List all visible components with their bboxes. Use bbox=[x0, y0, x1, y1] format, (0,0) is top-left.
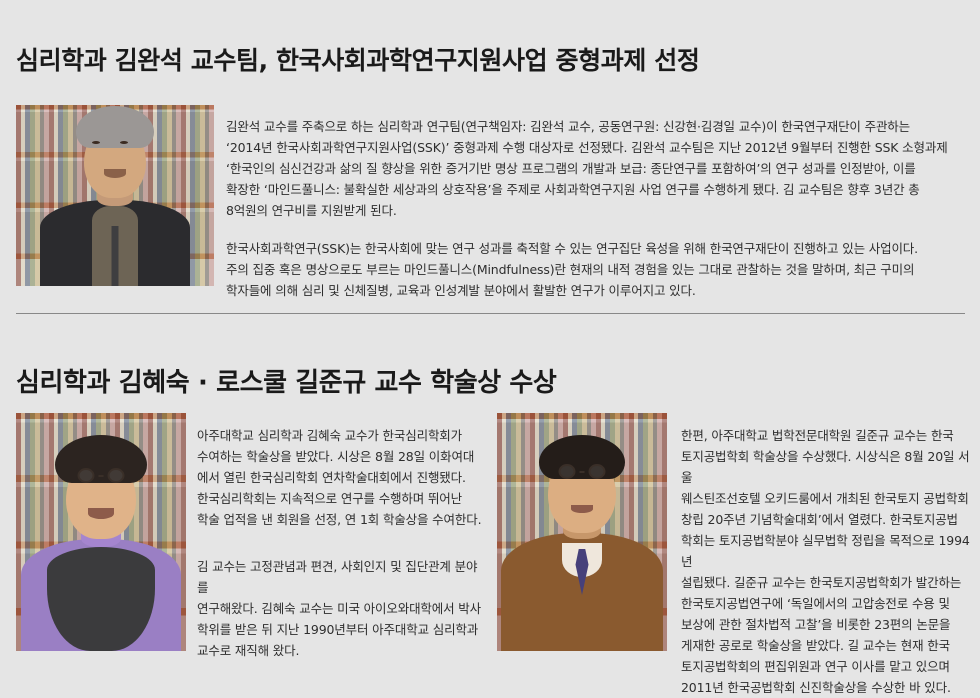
article-1-paragraph-1: 김완석 교수를 주축으로 하는 심리학과 연구팀(연구책임자: 김완석 교수, … bbox=[226, 116, 968, 221]
article-2-photo-gil-jungyu bbox=[497, 413, 667, 651]
article-2-left-paragraph-1: 아주대학교 심리학과 김혜숙 교수가 한국심리학회가 수여하는 학술상을 받았다… bbox=[197, 425, 487, 530]
article-2-left-paragraph-2: 김 교수는 고정관념과 편견, 사회인지 및 집단관계 분야를 연구해왔다. 김… bbox=[197, 556, 487, 661]
mouth bbox=[104, 169, 126, 178]
section-divider bbox=[16, 313, 965, 314]
article-1-headline: 심리학과 김완석 교수팀, 한국사회과학연구지원사업 중형과제 선정 bbox=[16, 47, 699, 75]
torso bbox=[40, 200, 190, 286]
news-page: 심리학과 김완석 교수팀, 한국사회과학연구지원사업 중형과제 선정 김완석 교… bbox=[0, 0, 980, 665]
article-2-photo-kim-hyesook bbox=[16, 413, 186, 651]
glasses-icon bbox=[559, 464, 606, 479]
mouth bbox=[88, 508, 114, 519]
article-1-paragraph-2: 한국사회과학연구(SSK)는 한국사회에 맞는 연구 성과를 축적할 수 있는 … bbox=[226, 238, 968, 301]
lens-bridge bbox=[580, 471, 585, 473]
torso bbox=[21, 539, 181, 651]
eye-left bbox=[92, 141, 100, 144]
lens-left bbox=[559, 464, 576, 479]
lens-right bbox=[589, 464, 606, 479]
lens-left bbox=[78, 468, 95, 483]
lens-right bbox=[108, 468, 125, 483]
eye-right bbox=[120, 141, 128, 144]
lens-bridge bbox=[99, 475, 104, 477]
article-1-photo-kim-wanseok bbox=[16, 105, 214, 286]
mouth bbox=[571, 505, 593, 513]
glasses-icon bbox=[78, 468, 125, 483]
article-2-right-paragraph-1: 한편, 아주대학교 법학전문대학원 길준규 교수는 한국 토지공법학회 학술상을… bbox=[681, 425, 971, 698]
article-2-headline: 심리학과 김혜숙 · 로스쿨 길준규 교수 학술상 수상 bbox=[16, 369, 556, 398]
torso bbox=[501, 533, 663, 651]
